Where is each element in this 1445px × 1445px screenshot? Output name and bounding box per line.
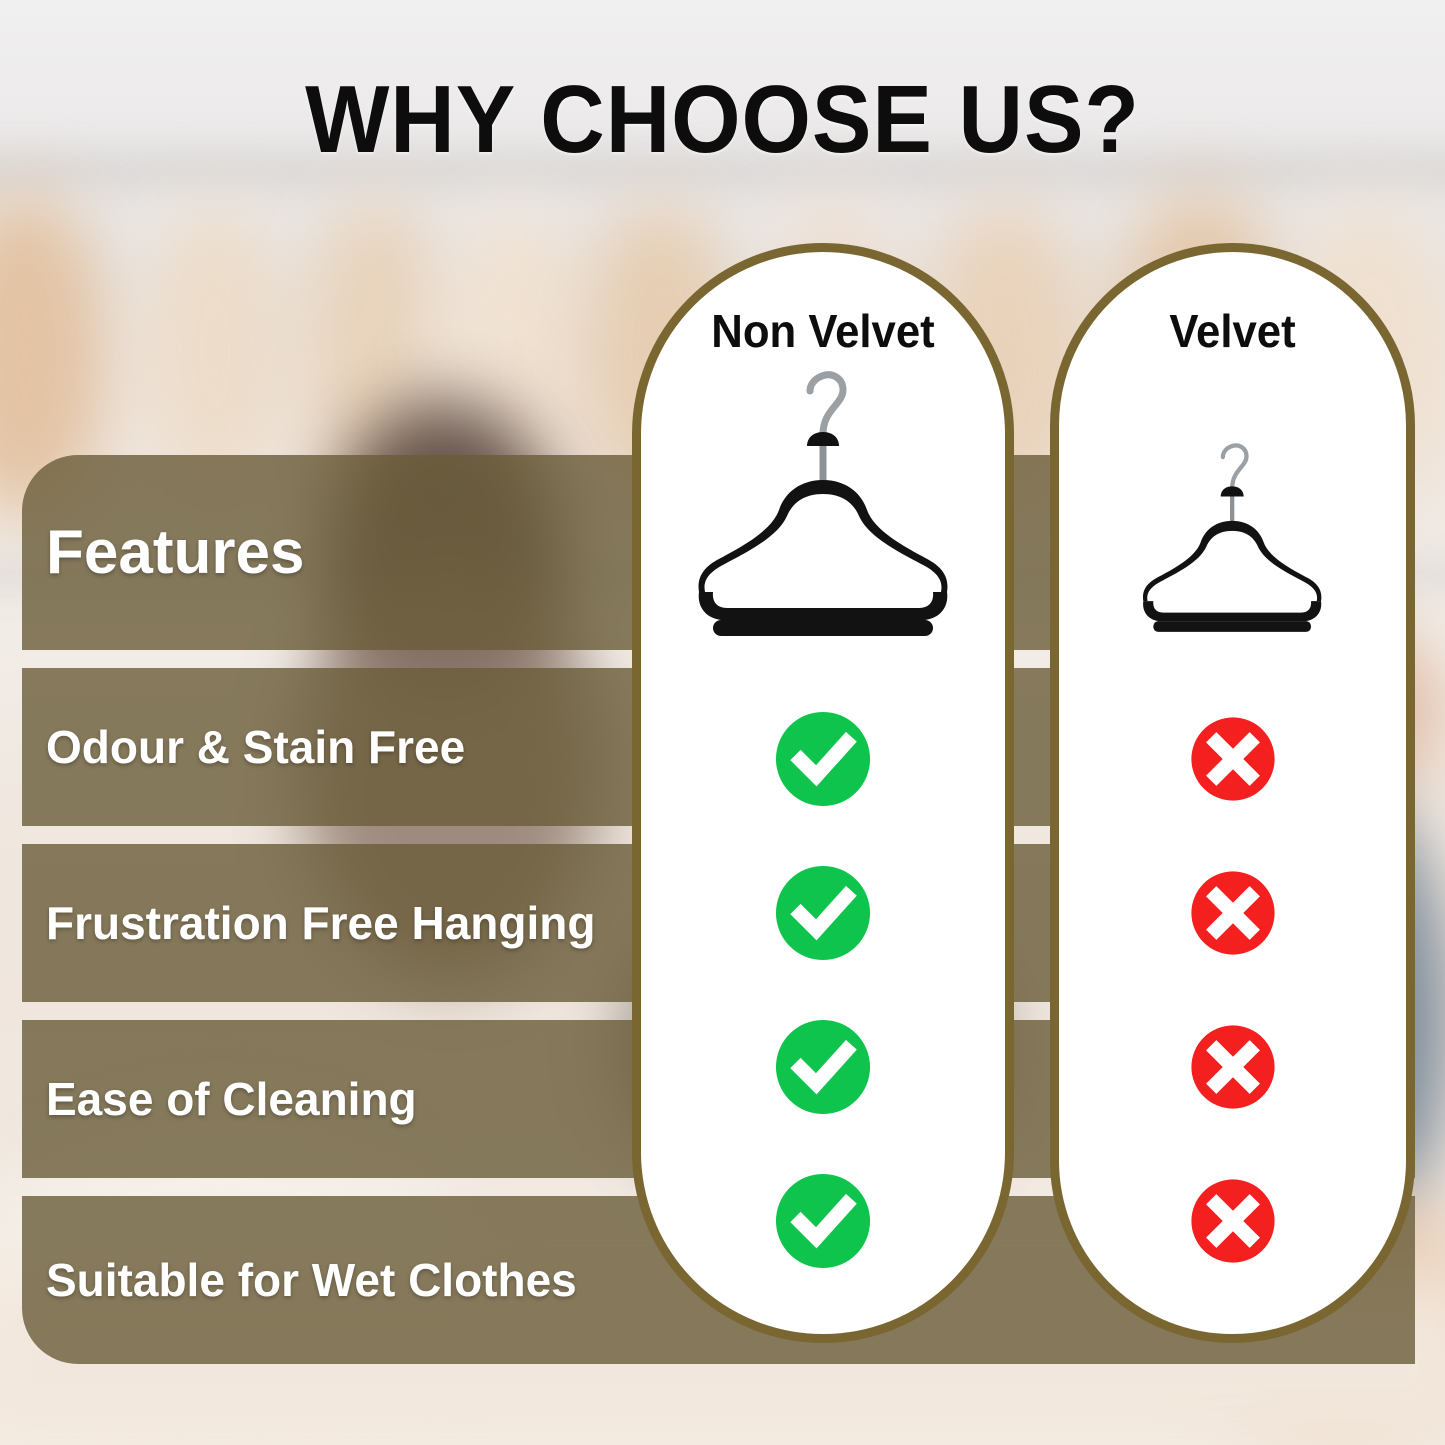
feature-label: Suitable for Wet Clothes xyxy=(46,1256,577,1304)
clothes-hanger-icon xyxy=(1059,442,1406,657)
comparison-panel-velvet: Velvet xyxy=(1050,243,1415,1343)
feature-label: Odour & Stain Free xyxy=(46,723,465,771)
verdict-column-velvet xyxy=(1059,682,1406,1298)
features-heading-label: Features xyxy=(46,520,304,585)
column-header-non-velvet: Non Velvet xyxy=(650,304,996,358)
infographic-canvas: WHY CHOOSE US? Features Odour & Stain Fr… xyxy=(0,0,1445,1445)
cross-circle-icon xyxy=(1181,707,1285,811)
comparison-panel-non-velvet: Non Velvet xyxy=(632,243,1014,1343)
page-title: WHY CHOOSE US? xyxy=(51,72,1395,168)
feature-label: Ease of Cleaning xyxy=(46,1075,417,1123)
check-circle-icon xyxy=(767,1165,879,1277)
check-circle-icon xyxy=(767,1011,879,1123)
cross-circle-icon xyxy=(1181,861,1285,965)
clothes-hanger-icon xyxy=(641,370,1005,670)
verdict-column-non-velvet xyxy=(641,682,1005,1298)
cross-circle-icon xyxy=(1181,1015,1285,1119)
cross-circle-icon xyxy=(1181,1169,1285,1273)
check-circle-icon xyxy=(767,857,879,969)
column-header-velvet: Velvet xyxy=(1068,304,1398,358)
check-circle-icon xyxy=(767,703,879,815)
feature-label: Frustration Free Hanging xyxy=(46,899,595,947)
